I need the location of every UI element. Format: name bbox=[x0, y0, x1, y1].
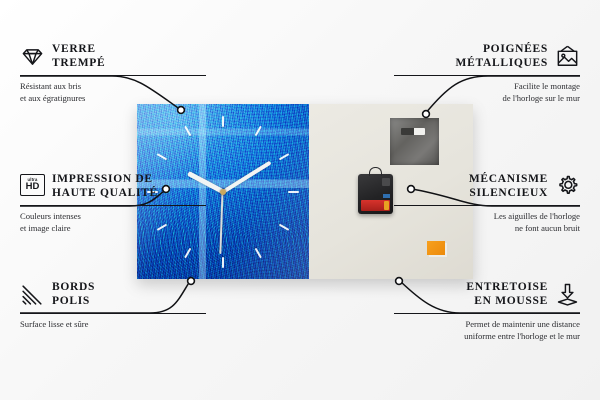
feature-title-line2: HAUTE QUALITÉ bbox=[52, 187, 158, 199]
feature-divider bbox=[394, 313, 580, 314]
feature-subtitle: Couleurs intenses et image claire bbox=[20, 210, 206, 234]
feature-subtitle-line2: ne font aucun bruit bbox=[515, 223, 580, 233]
clock-tick bbox=[223, 191, 299, 193]
feature-title-line1: ENTRETOISE bbox=[466, 281, 548, 293]
feature-subtitle-line1: Résistant aux bris bbox=[20, 81, 81, 91]
feature-subtitle-line1: Les aiguilles de l'horloge bbox=[494, 211, 580, 221]
arrow-down-pad-icon bbox=[555, 282, 580, 307]
polished-edges-icon bbox=[20, 282, 45, 307]
feature-title-line2: MÉTALLIQUES bbox=[456, 57, 548, 69]
foam-spacer bbox=[427, 241, 445, 255]
feature-subtitle-line1: Facilite le montage bbox=[514, 81, 580, 91]
feature-title: IMPRESSION DE HAUTE QUALITÉ bbox=[52, 172, 158, 201]
feature-title-line2: SILENCIEUX bbox=[469, 187, 548, 199]
feature-title: POIGNÉES MÉTALLIQUES bbox=[456, 42, 548, 71]
feature-header: ENTRETOISE EN MOUSSE bbox=[394, 280, 580, 309]
feature-divider bbox=[20, 313, 206, 314]
feature-header: VERRE TREMPÉ bbox=[20, 42, 206, 71]
feature-header: BORDS POLIS bbox=[20, 280, 206, 309]
feature-impression-haute-qualite: ultra HD IMPRESSION DE HAUTE QUALITÉ Cou… bbox=[20, 172, 206, 235]
feature-subtitle: Permet de maintenir une distance uniform… bbox=[394, 318, 580, 342]
feature-title-line2: EN MOUSSE bbox=[474, 295, 548, 307]
feature-entretoise-en-mousse: ENTRETOISE EN MOUSSE Permet de maintenir… bbox=[394, 280, 580, 343]
mechanism-dial bbox=[382, 178, 390, 186]
battery bbox=[361, 200, 390, 211]
feature-title: ENTRETOISE EN MOUSSE bbox=[466, 280, 548, 309]
feature-subtitle-line2: de l'horloge sur le mur bbox=[503, 93, 580, 103]
feature-title: BORDS POLIS bbox=[52, 280, 95, 309]
feature-divider bbox=[20, 205, 206, 206]
feature-title-line1: POIGNÉES bbox=[483, 43, 548, 55]
infographic-stage: VERRE TREMPÉ Résistant aux bris et aux é… bbox=[0, 0, 600, 400]
feature-mecanisme-silencieux: MÉCANISME SILENCIEUX Les aiguilles de l'… bbox=[394, 172, 580, 235]
feature-subtitle-line2: et image claire bbox=[20, 223, 71, 233]
diamond-icon bbox=[20, 44, 45, 69]
hanger-slot bbox=[401, 128, 425, 135]
ultra-hd-badge-icon: ultra HD bbox=[20, 174, 45, 199]
quartz-mechanism bbox=[358, 174, 393, 214]
feature-title-line1: MÉCANISME bbox=[469, 173, 548, 185]
feature-subtitle-line1: Couleurs intenses bbox=[20, 211, 81, 221]
feature-subtitle: Facilite le montage de l'horloge sur le … bbox=[394, 80, 580, 104]
feature-header: POIGNÉES MÉTALLIQUES bbox=[394, 42, 580, 71]
clock-tick bbox=[222, 116, 224, 192]
feature-title: VERRE TREMPÉ bbox=[52, 42, 105, 71]
feature-header: MÉCANISME SILENCIEUX bbox=[394, 172, 580, 201]
feature-bords-polis: BORDS POLIS Surface lisse et sûre bbox=[20, 280, 206, 330]
feature-title-line1: VERRE bbox=[52, 43, 96, 55]
feature-verre-trempe: VERRE TREMPÉ Résistant aux bris et aux é… bbox=[20, 42, 206, 105]
feature-divider bbox=[20, 75, 206, 76]
mechanism-hanging-loop bbox=[369, 167, 382, 176]
feature-subtitle-line1: Surface lisse et sûre bbox=[20, 319, 89, 329]
metal-hanger-plate bbox=[390, 118, 439, 165]
feature-divider bbox=[394, 75, 580, 76]
battery-terminal bbox=[384, 201, 389, 210]
clock-center-pin bbox=[220, 189, 226, 195]
feature-subtitle-line2: et aux égratignures bbox=[20, 93, 85, 103]
mechanism-label bbox=[383, 194, 390, 198]
feature-title-line2: POLIS bbox=[52, 295, 90, 307]
feature-title-line2: TREMPÉ bbox=[52, 57, 105, 69]
gear-icon bbox=[555, 174, 580, 199]
ultra-hd-main-text: HD bbox=[26, 182, 40, 192]
feature-title: MÉCANISME SILENCIEUX bbox=[469, 172, 548, 201]
feature-title-line1: BORDS bbox=[52, 281, 95, 293]
feature-subtitle-line1: Permet de maintenir une distance bbox=[465, 319, 580, 329]
picture-hanger-frame-icon bbox=[555, 44, 580, 69]
feature-subtitle: Les aiguilles de l'horloge ne font aucun… bbox=[394, 210, 580, 234]
feature-poignees-metalliques: POIGNÉES MÉTALLIQUES Facilite le montage… bbox=[394, 42, 580, 105]
feature-header: ultra HD IMPRESSION DE HAUTE QUALITÉ bbox=[20, 172, 206, 201]
feature-subtitle: Surface lisse et sûre bbox=[20, 318, 206, 330]
feature-divider bbox=[394, 205, 580, 206]
feature-subtitle-line2: uniforme entre l'horloge et le mur bbox=[464, 331, 580, 341]
feature-title-line1: IMPRESSION DE bbox=[52, 173, 153, 185]
feature-subtitle: Résistant aux bris et aux égratignures bbox=[20, 80, 206, 104]
